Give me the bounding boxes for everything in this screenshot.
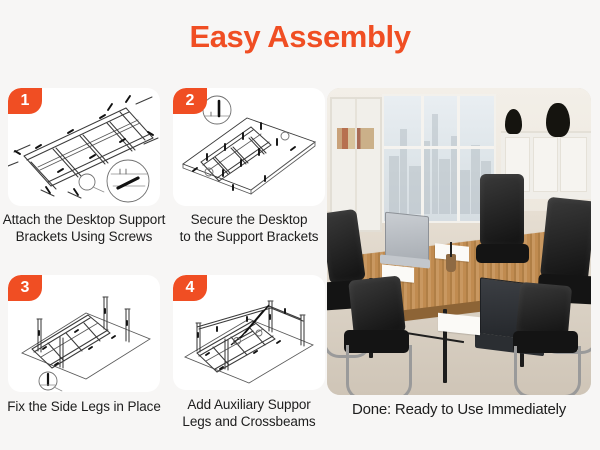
step-3-badge: 3	[8, 275, 42, 301]
page-title: Easy Assembly	[0, 18, 600, 56]
step-2-caption-line1: Secure the Desktop	[165, 211, 333, 228]
result-caption: Done: Ready to Use Immediately	[327, 400, 591, 419]
step-1-caption: Attach the Desktop Support Brackets Usin…	[0, 211, 168, 245]
step-3-card: 3	[8, 275, 160, 392]
vase-small	[505, 109, 522, 134]
pen	[450, 242, 452, 257]
step-4-card: 4	[173, 275, 325, 390]
step-2-badge: 2	[173, 88, 207, 114]
result-photo	[327, 88, 591, 395]
office-scene	[327, 88, 591, 395]
step-3-caption: Fix the Side Legs in Place	[0, 398, 168, 415]
step-2-caption: Secure the Desktop to the Support Bracke…	[165, 211, 333, 245]
chair-center	[475, 174, 538, 291]
step-1-card: 1	[8, 88, 160, 206]
step-3-caption-line1: Fix the Side Legs in Place	[0, 398, 168, 415]
step-1-badge: 1	[8, 88, 42, 114]
chair-front-right	[507, 284, 586, 395]
chair-front-left	[343, 278, 422, 395]
step-4-caption-line1: Add Auxiliary Suppor	[165, 396, 333, 413]
step-4-caption: Add Auxiliary Suppor Legs and Crossbeams	[165, 396, 333, 430]
result-caption-text: Done: Ready to Use Immediately	[327, 400, 591, 419]
step-4-caption-line2: Legs and Crossbeams	[165, 413, 333, 430]
step-1-caption-line1: Attach the Desktop Support	[0, 211, 168, 228]
step-1-caption-line2: Brackets Using Screws	[0, 228, 168, 245]
vase-large	[546, 103, 570, 137]
step-2-card: 2	[173, 88, 325, 206]
step-2-caption-line2: to the Support Brackets	[165, 228, 333, 245]
laptop-silver-screen	[385, 212, 429, 262]
step-4-badge: 4	[173, 275, 207, 301]
product-infographic-page: Easy Assembly	[0, 0, 600, 450]
